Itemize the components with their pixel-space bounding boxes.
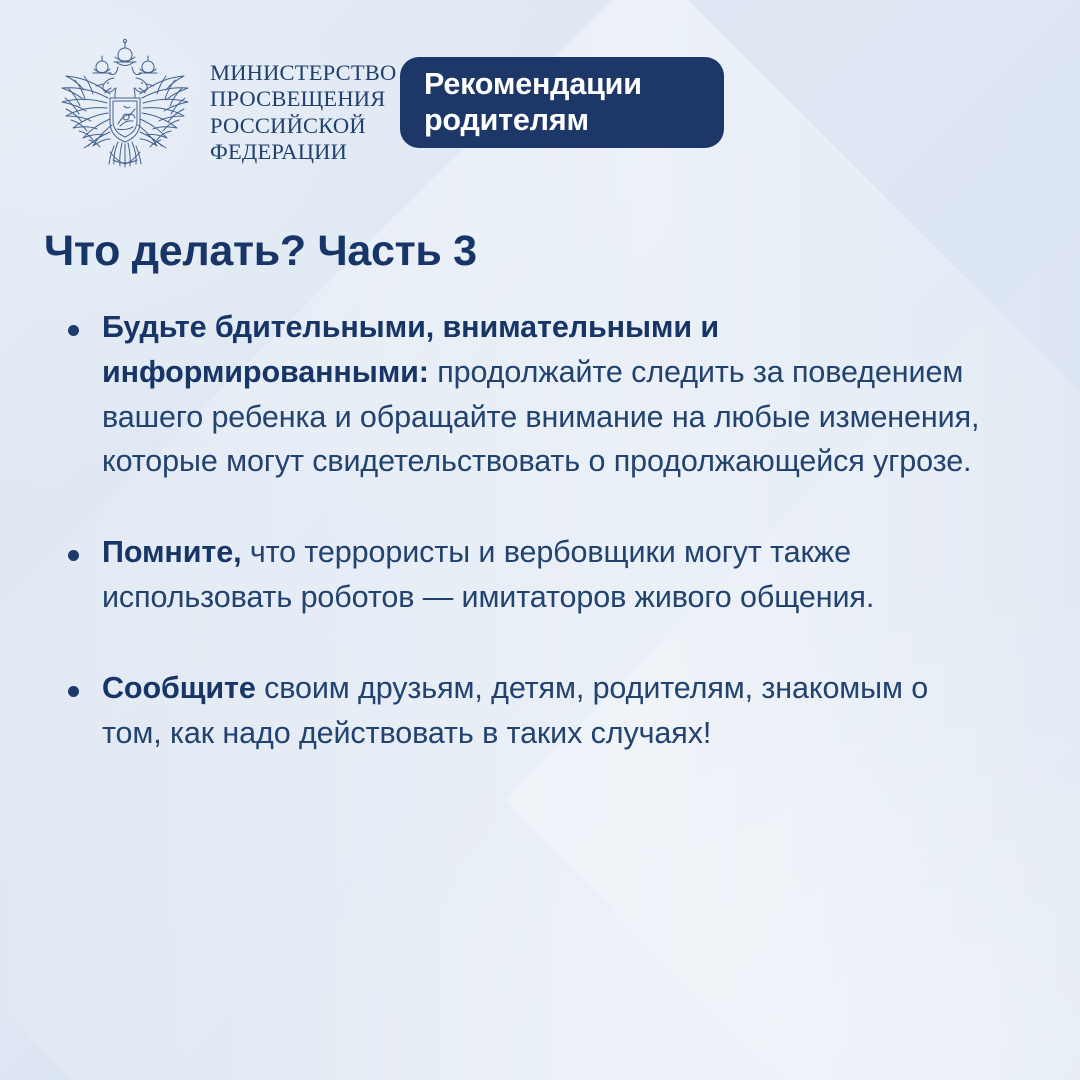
slide-canvas: МИНИСТЕРСТВО ПРОСВЕЩЕНИЯ РОССИЙСКОЙ ФЕДЕ…: [0, 0, 1080, 1080]
bullet-text: Помните, что террористы и вербовщики мог…: [102, 530, 984, 620]
bullet-list: Будьте бдительными, внимательными и инфо…: [44, 305, 984, 756]
page-title: Что делать? Часть 3: [44, 227, 477, 276]
ministry-line-4: ФЕДЕРАЦИИ: [210, 139, 396, 165]
badge-line-1: Рекомендации: [424, 67, 700, 103]
list-item: Сообщите своим друзьям, детям, родителям…: [44, 666, 984, 756]
badge-line-2: родителям: [424, 103, 700, 139]
badge-recommendations-for-parents: Рекомендации родителям: [400, 57, 724, 148]
list-item: Будьте бдительными, внимательными и инфо…: [44, 305, 984, 484]
bullet-text: Будьте бдительными, внимательными и инфо…: [102, 305, 984, 484]
russian-double-headed-eagle-emblem: [44, 36, 206, 168]
bullet-dot-icon: [68, 686, 79, 697]
ministry-line-1: МИНИСТЕРСТВО: [210, 60, 396, 86]
list-item: Помните, что террористы и вербовщики мог…: [44, 530, 984, 620]
ministry-name: МИНИСТЕРСТВО ПРОСВЕЩЕНИЯ РОССИЙСКОЙ ФЕДЕ…: [210, 60, 396, 165]
bullet-dot-icon: [68, 550, 79, 561]
ministry-line-2: ПРОСВЕЩЕНИЯ: [210, 86, 396, 112]
ministry-line-3: РОССИЙСКОЙ: [210, 113, 396, 139]
header: МИНИСТЕРСТВО ПРОСВЕЩЕНИЯ РОССИЙСКОЙ ФЕДЕ…: [44, 36, 396, 168]
bullet-lead-bold: Помните,: [102, 535, 241, 569]
bullet-dot-icon: [68, 325, 79, 336]
bullet-lead-bold: Сообщите: [102, 671, 256, 705]
bullet-text: Сообщите своим друзьям, детям, родителям…: [102, 666, 984, 756]
